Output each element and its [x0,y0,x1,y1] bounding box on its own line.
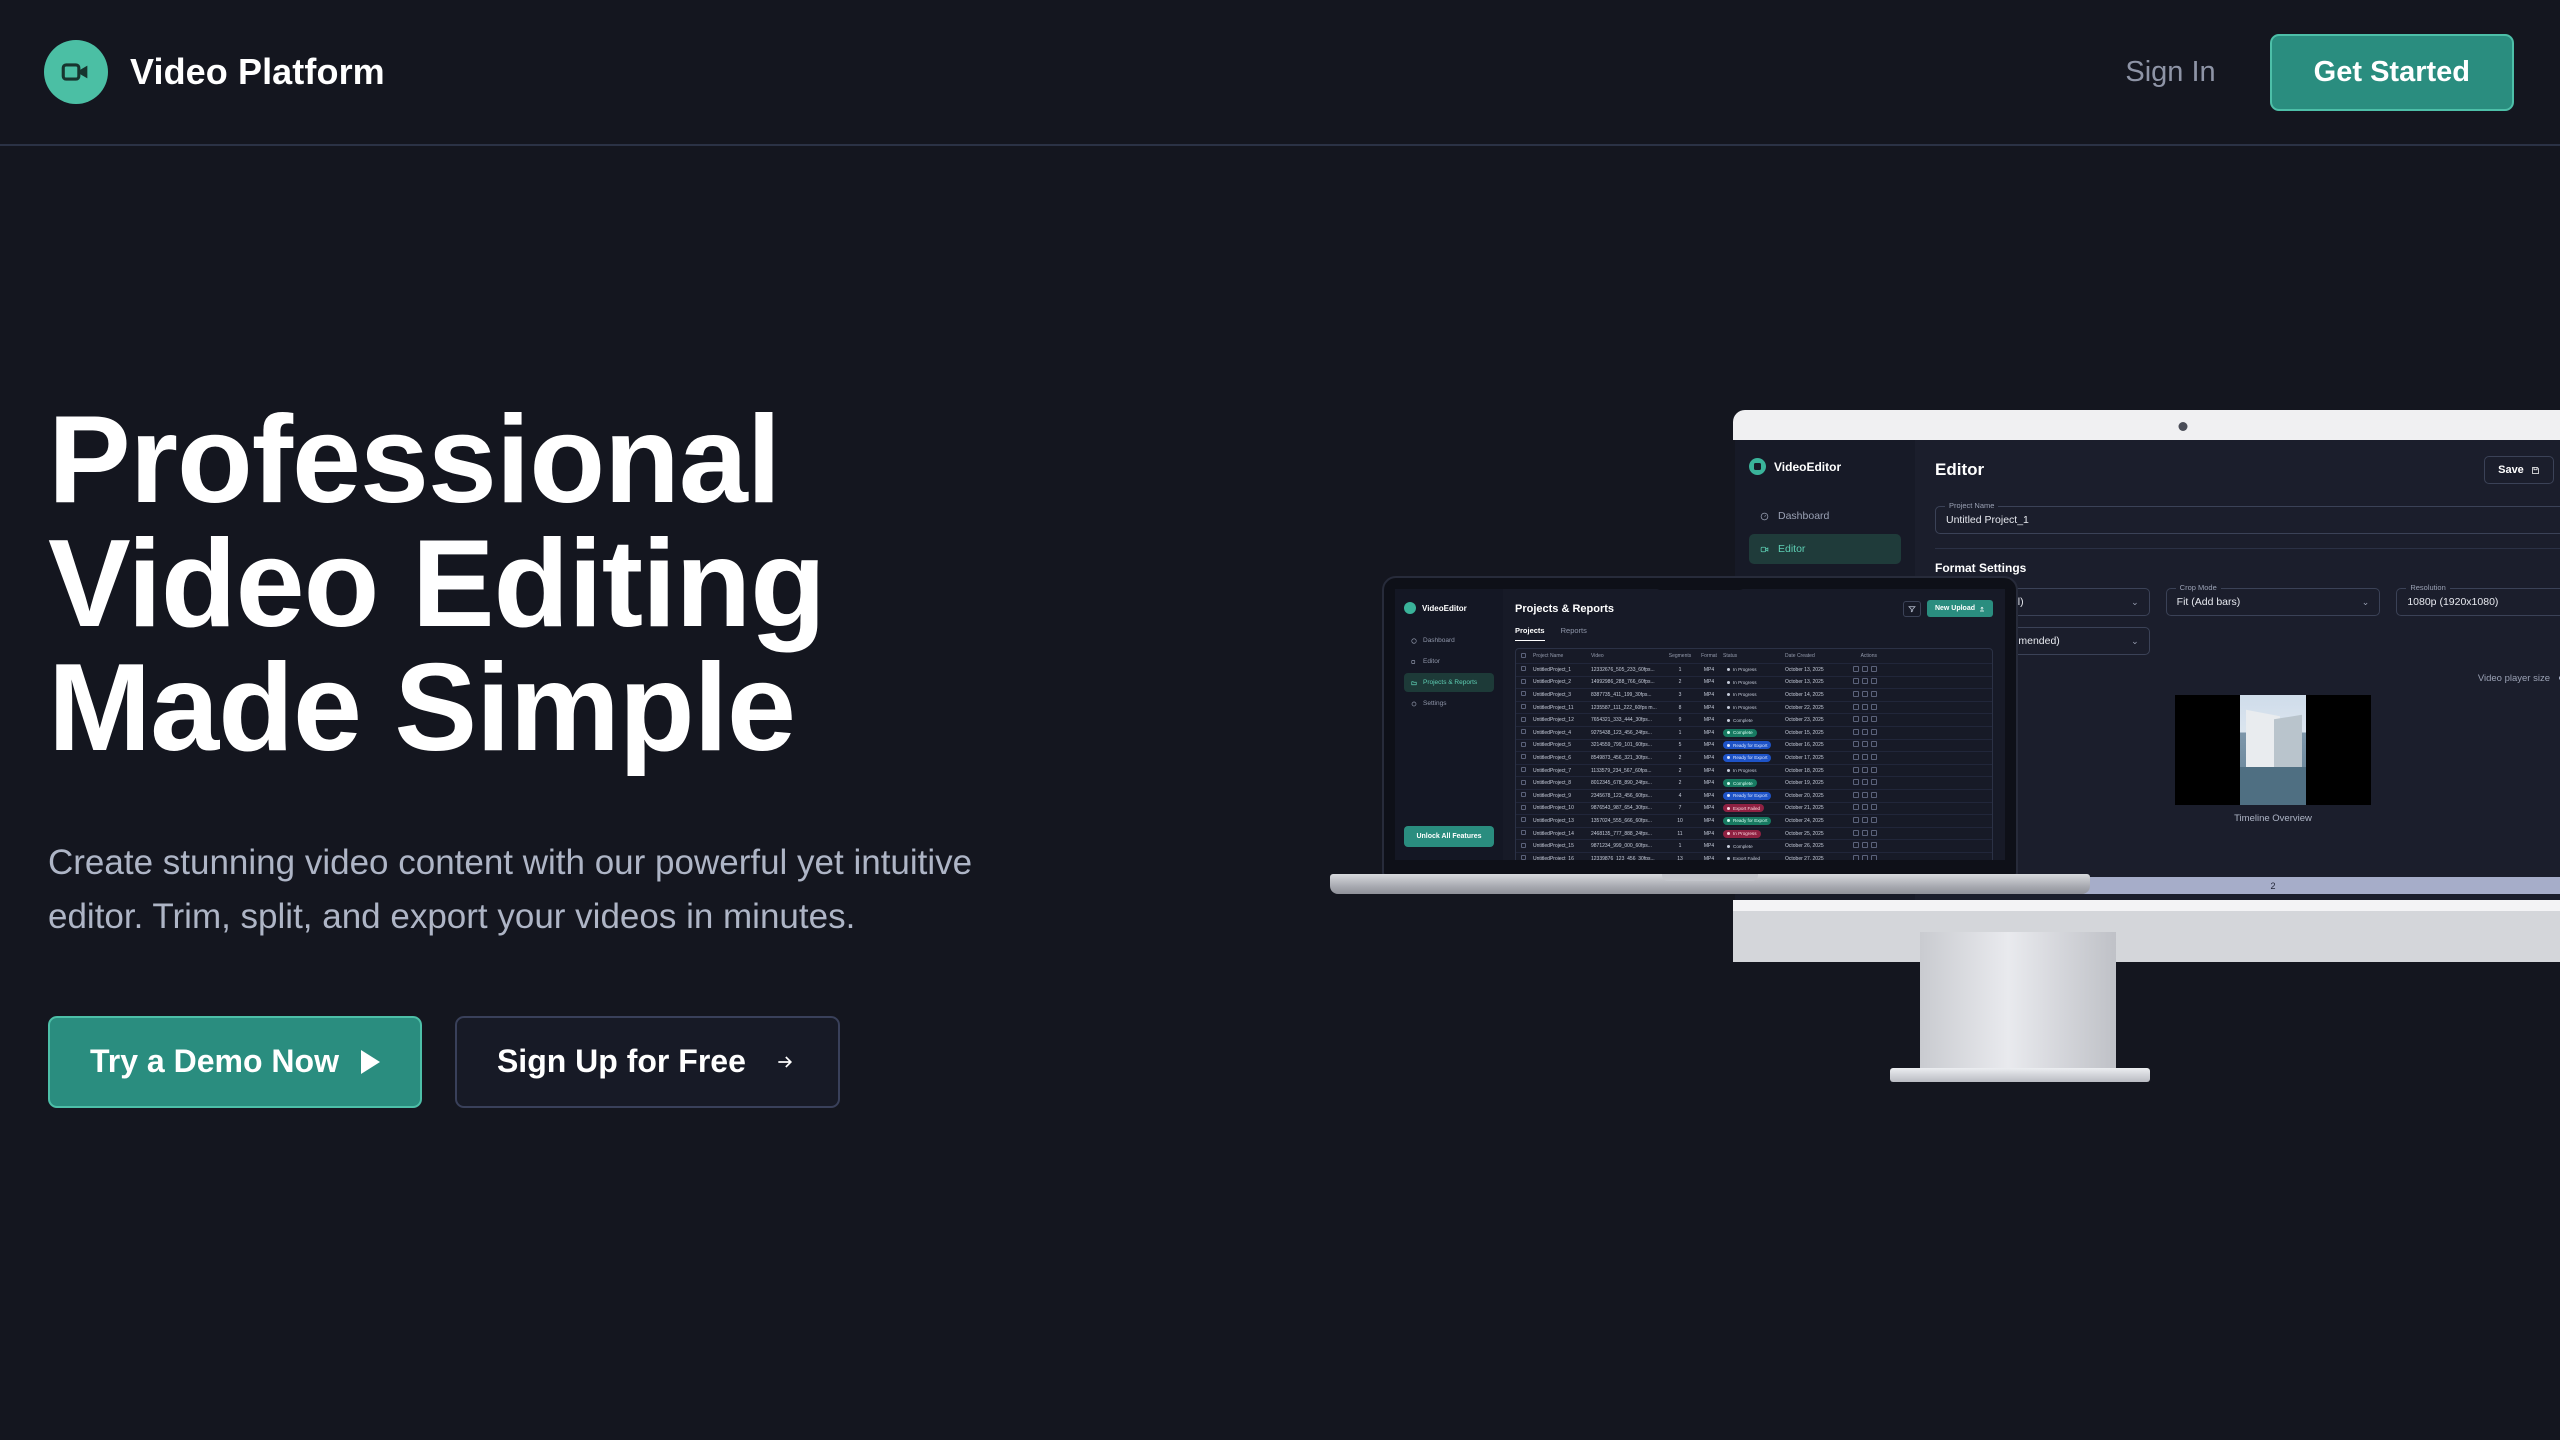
sidebar-item-editor[interactable]: Editor [1749,534,1901,564]
cell-segments: 11 [1665,831,1695,837]
cell-video: 14992986_288_766_60fps... [1591,679,1665,685]
export-icon[interactable] [1862,691,1868,697]
cell-actions [1843,779,1877,787]
title-line-2: Video Editing [48,522,1148,646]
row-checkbox[interactable] [1521,843,1533,850]
status-badge: In Progress [1723,767,1761,775]
cell-actions [1843,741,1877,749]
export-icon[interactable] [1862,729,1868,735]
video-frame [2240,695,2306,805]
edit-icon[interactable] [1853,678,1859,684]
cell-status: In Progress [1723,678,1785,686]
status-badge: In Progress [1723,678,1761,686]
delete-icon[interactable] [1871,842,1877,848]
cell-format: MP4 [1695,780,1723,786]
cell-actions [1843,678,1877,686]
folder-icon [1411,680,1417,686]
cell-format: MP4 [1695,692,1723,698]
column-project-name[interactable]: Project Name [1533,653,1591,659]
delete-icon[interactable] [1871,779,1877,785]
cell-project-name: UntitledProject_4 [1533,730,1591,736]
hero-subtitle: Create stunning video content with our p… [48,836,1118,944]
cell-segments: 2 [1665,768,1695,774]
cell-format: MP4 [1695,667,1723,673]
cell-date-created: October 16, 2025 [1785,742,1843,748]
new-upload-label: New Upload [1935,605,1975,612]
status-badge: Ready for Export [1723,741,1771,749]
editor-brand: VideoEditor [1749,458,1901,475]
cell-actions [1843,767,1877,775]
status-badge: In Progress [1723,666,1761,674]
cell-status: Complete [1723,716,1785,724]
video-player[interactable] [2175,695,2371,805]
column-status[interactable]: Status [1723,653,1785,659]
export-icon[interactable] [1862,842,1868,848]
table-row[interactable]: UntitledProject_49275438_123_456_24fps..… [1516,727,1992,740]
editor-brand-label: VideoEditor [1774,460,1841,474]
cell-segments: 7 [1665,805,1695,811]
cell-format: MP4 [1695,717,1723,723]
title-line-3: Made Simple [48,646,1148,770]
table-row[interactable]: UntitledProject_53214559_799_101_60fps..… [1516,740,1992,753]
edit-icon[interactable] [1853,804,1859,810]
editor-topbar: Editor Save Exp [1935,456,2560,484]
table-row[interactable]: UntitledProject_71133579_234_567_60fps..… [1516,765,1992,778]
status-badge: Complete [1723,729,1757,737]
cell-video: 12332676_505_233_60fps... [1591,667,1665,673]
cell-video: 8387735_411_199_30fps... [1591,692,1665,698]
cell-status: Ready for Export [1723,817,1785,825]
cell-segments: 2 [1665,679,1695,685]
cell-format: MP4 [1695,856,1723,860]
status-badge: Ready for Export [1723,817,1771,825]
cell-status: In Progress [1723,767,1785,775]
delete-icon[interactable] [1871,704,1877,710]
select-all-checkbox[interactable] [1521,653,1533,660]
status-badge: Complete [1723,842,1757,850]
cell-actions [1843,842,1877,850]
try-demo-label: Try a Demo Now [90,1043,339,1080]
cell-segments: 1 [1665,730,1695,736]
video-icon [1411,659,1417,665]
edit-icon[interactable] [1853,716,1859,722]
chevron-down-icon: ⌄ [2362,597,2370,608]
table-row[interactable]: UntitledProject_68549873_456_321_30fps..… [1516,752,1992,765]
cell-video: 1357024_555_666_60fps... [1591,818,1665,824]
edit-icon[interactable] [1853,830,1859,836]
cell-format: MP4 [1695,730,1723,736]
export-icon[interactable] [1862,855,1868,860]
hero-cta-group: Try a Demo Now Sign Up for Free [48,1016,1148,1108]
cell-status: Complete [1723,842,1785,850]
cell-segments: 1 [1665,843,1695,849]
status-badge: Ready for Export [1723,754,1771,762]
sidebar-item-dashboard[interactable]: Dashboard [1404,631,1494,650]
cell-format: MP4 [1695,831,1723,837]
cell-date-created: October 26, 2025 [1785,843,1843,849]
row-checkbox[interactable] [1521,792,1533,799]
sign-in-link[interactable]: Sign In [2125,56,2215,89]
camera-icon [2179,422,2188,431]
cell-status: Ready for Export [1723,792,1785,800]
export-icon[interactable] [1862,704,1868,710]
cell-format: MP4 [1695,705,1723,711]
laptop-screen: VideoEditor Dashboard Editor [1395,589,2005,860]
delete-icon[interactable] [1871,666,1877,672]
projects-table: Project Name Video Segments Format Statu… [1515,648,1993,860]
save-label: Save [2498,464,2524,476]
row-checkbox[interactable] [1521,855,1533,860]
cell-actions [1843,792,1877,800]
status-badge: In Progress [1723,691,1761,699]
cell-video: 12339876_123_456_30fps... [1591,856,1665,860]
export-icon[interactable] [1862,754,1868,760]
cell-status: Complete [1723,779,1785,787]
export-icon[interactable] [1862,804,1868,810]
cell-format: MP4 [1695,768,1723,774]
cell-video: 9876543_987_654_30fps... [1591,805,1665,811]
cell-segments: 1 [1665,667,1695,673]
row-checkbox[interactable] [1521,691,1533,698]
resolution-select[interactable]: Resolution 1080p (1920x1080) ⌄ [2396,588,2560,616]
sidebar-label: Editor [1778,543,1805,555]
laptop-tabs: Projects Reports [1515,626,1993,641]
cell-project-name: UntitledProject_3 [1533,692,1591,698]
monitor-stand-foot [1890,1068,2150,1082]
laptop-nav: Dashboard Editor Projects & Reports [1404,631,1494,713]
cell-video: 2468135_777_888_24fps... [1591,831,1665,837]
brand-name: Video Platform [130,51,385,93]
video-icon [1760,545,1769,554]
cell-project-name: UntitledProject_10 [1533,805,1591,811]
cell-segments: 3 [1665,692,1695,698]
try-demo-button[interactable]: Try a Demo Now [48,1016,422,1108]
row-checkbox[interactable] [1521,717,1533,724]
delete-icon[interactable] [1871,855,1877,860]
cell-actions [1843,704,1877,712]
cell-actions [1843,729,1877,737]
cell-actions [1843,830,1877,838]
row-checkbox[interactable] [1521,780,1533,787]
laptop-base-notch [1662,874,1758,881]
cell-video: 9871234_999_000_60fps... [1591,843,1665,849]
laptop-notch [1654,578,1746,590]
laptop-brand: VideoEditor [1404,602,1494,614]
table-row[interactable]: UntitledProject_109876543_987_654_30fps.… [1516,803,1992,816]
field-label: Crop Mode [2176,583,2221,592]
subtitle-line-1: Create stunning video content with our p… [48,836,1118,890]
subtitle-line-2: editor. Trim, split, and export your vid… [48,890,1118,944]
export-icon[interactable] [1862,779,1868,785]
site-header: Video Platform Sign In Get Started [0,0,2560,146]
status-badge: Complete [1723,779,1757,787]
cell-project-name: UntitledProject_13 [1533,818,1591,824]
cell-actions [1843,716,1877,724]
gauge-icon [1411,638,1417,644]
delete-icon[interactable] [1871,729,1877,735]
cell-video: 8549873_456_321_30fps... [1591,755,1665,761]
cell-segments: 2 [1665,780,1695,786]
project-name-label: Project Name [1945,501,1998,510]
save-button[interactable]: Save [2484,456,2554,484]
video-camera-icon [1749,458,1766,475]
header-nav: Sign In Get Started [2125,34,2514,111]
table-header-row: Project Name Video Segments Format Statu… [1516,649,1992,664]
delete-icon[interactable] [1871,741,1877,747]
sidebar-label: Editor [1423,658,1440,665]
edit-icon[interactable] [1853,779,1859,785]
cell-video: 7654321_333_444_30fps... [1591,717,1665,723]
player-size-control[interactable]: Video player size [2478,673,2560,684]
cell-project-name: UntitledProject_16 [1533,856,1591,860]
cell-date-created: October 21, 2025 [1785,805,1843,811]
edit-icon[interactable] [1853,855,1859,860]
delete-icon[interactable] [1871,716,1877,722]
cell-status: Ready for Export [1723,741,1785,749]
cell-date-created: October 23, 2025 [1785,717,1843,723]
cell-date-created: October 18, 2025 [1785,768,1843,774]
chevron-down-icon: ⌄ [2131,597,2139,608]
cell-actions [1843,754,1877,762]
cell-segments: 4 [1665,793,1695,799]
cell-date-created: October 15, 2025 [1785,730,1843,736]
cell-video: 1133579_234_567_60fps... [1591,768,1665,774]
crop-mode-select[interactable]: Crop Mode Fit (Add bars) ⌄ [2166,588,2381,616]
cell-format: MP4 [1695,843,1723,849]
cell-date-created: October 24, 2025 [1785,818,1843,824]
table-row[interactable]: UntitledProject_131357024_555_666_60fps.… [1516,815,1992,828]
project-name-value: Untitled Project_1 [1946,514,2029,526]
export-icon[interactable] [1862,817,1868,823]
sidebar-item-settings[interactable]: Settings [1404,694,1494,713]
cell-date-created: October 14, 2025 [1785,692,1843,698]
project-name-field[interactable]: Project Name Untitled Project_1 [1935,506,2560,534]
edit-icon[interactable] [1853,729,1859,735]
status-badge: Export Failed [1723,855,1764,860]
cell-format: MP4 [1695,742,1723,748]
cell-project-name: UntitledProject_14 [1533,831,1591,837]
cell-format: MP4 [1695,793,1723,799]
column-format[interactable]: Format [1695,653,1723,659]
table-row[interactable]: UntitledProject_111235587_111_222_60fps … [1516,702,1992,715]
delete-icon[interactable] [1871,754,1877,760]
chevron-down-icon: ⌄ [2131,636,2139,647]
table-row[interactable]: UntitledProject_112332676_505_233_60fps.… [1516,664,1992,677]
row-checkbox[interactable] [1521,704,1533,711]
cell-status: In Progress [1723,691,1785,699]
cell-segments: 2 [1665,755,1695,761]
editor-page-title: Editor [1935,460,1984,480]
cell-status: Export Failed [1723,855,1785,860]
tab-reports[interactable]: Reports [1561,626,1587,641]
sidebar-item-projects[interactable]: Projects & Reports [1404,673,1494,692]
tab-projects[interactable]: Projects [1515,626,1545,641]
table-row[interactable]: UntitledProject_159871234_999_000_60fps.… [1516,840,1992,853]
get-started-button[interactable]: Get Started [2270,34,2514,111]
edit-icon[interactable] [1853,842,1859,848]
export-icon[interactable] [1862,666,1868,672]
video-camera-icon [1404,602,1416,614]
export-icon[interactable] [1862,830,1868,836]
delete-icon[interactable] [1871,792,1877,798]
divider [1935,548,2560,549]
status-badge: Complete [1723,716,1757,724]
edit-icon[interactable] [1853,704,1859,710]
delete-icon[interactable] [1871,678,1877,684]
cell-date-created: October 17, 2025 [1785,755,1843,761]
cell-project-name: UntitledProject_9 [1533,793,1591,799]
cell-project-name: UntitledProject_8 [1533,780,1591,786]
sidebar-item-editor[interactable]: Editor [1404,652,1494,671]
cell-date-created: October 13, 2025 [1785,667,1843,673]
edit-icon[interactable] [1853,691,1859,697]
status-badge: Export Failed [1723,804,1764,812]
field-value: Fit (Add bars) [2177,596,2241,608]
laptop-main: Projects & Reports New Upload [1503,589,2005,860]
play-icon [361,1050,380,1074]
status-badge: In Progress [1723,830,1761,838]
filter-icon[interactable] [1903,601,1921,617]
page-title: Professional Video Editing Made Simple [48,398,1148,770]
arrow-right-icon [772,1043,798,1080]
column-video[interactable]: Video [1591,653,1665,659]
export-icon[interactable] [1862,678,1868,684]
delete-icon[interactable] [1871,804,1877,810]
field-label: Resolution [2406,583,2449,592]
sidebar-item-dashboard[interactable]: Dashboard [1749,501,1901,531]
cell-format: MP4 [1695,755,1723,761]
row-checkbox[interactable] [1521,729,1533,736]
cell-project-name: UntitledProject_15 [1533,843,1591,849]
edit-icon[interactable] [1853,666,1859,672]
edit-icon[interactable] [1853,792,1859,798]
sidebar-label: Dashboard [1778,510,1829,522]
laptop-lid: VideoEditor Dashboard Editor [1382,576,2018,876]
cell-actions [1843,666,1877,674]
delete-icon[interactable] [1871,691,1877,697]
cell-format: MP4 [1695,805,1723,811]
sidebar-label: Projects & Reports [1423,679,1477,686]
cell-status: Ready for Export [1723,754,1785,762]
cell-status: Export Failed [1723,804,1785,812]
table-row[interactable]: UntitledProject_142468135_777_888_24fps.… [1516,828,1992,841]
cell-video: 2345678_123_456_60fps... [1591,793,1665,799]
cell-segments: 13 [1665,856,1695,860]
cell-format: MP4 [1695,679,1723,685]
cell-status: In Progress [1723,704,1785,712]
cell-segments: 5 [1665,742,1695,748]
gear-icon [1411,701,1417,707]
cell-status: In Progress [1723,830,1785,838]
player-size-label: Video player size [2478,673,2550,684]
edit-icon[interactable] [1853,741,1859,747]
export-icon[interactable] [1862,716,1868,722]
cell-format: MP4 [1695,818,1723,824]
laptop-brand-label: VideoEditor [1422,604,1467,613]
cell-date-created: October 25, 2025 [1785,831,1843,837]
save-icon [2531,466,2540,475]
cell-video: 8012345_678_890_24fps... [1591,780,1665,786]
column-actions: Actions [1843,653,1877,659]
row-checkbox[interactable] [1521,742,1533,749]
table-row[interactable]: UntitledProject_214992986_288_766_60fps.… [1516,677,1992,690]
row-checkbox[interactable] [1521,754,1533,761]
monitor-bottom-bezel [1733,900,2560,962]
cell-project-name: UntitledProject_7 [1533,768,1591,774]
export-icon[interactable] [1862,741,1868,747]
row-checkbox[interactable] [1521,666,1533,673]
laptop-sidebar: VideoEditor Dashboard Editor [1395,589,1503,860]
format-settings-title: Format Settings [1935,561,2560,575]
cell-segments: 10 [1665,818,1695,824]
cell-segments: 8 [1665,705,1695,711]
delete-icon[interactable] [1871,767,1877,773]
sign-up-button[interactable]: Sign Up for Free [455,1016,840,1108]
sidebar-label: Settings [1423,700,1447,707]
new-upload-button[interactable]: New Upload [1927,600,1993,617]
sign-up-label: Sign Up for Free [497,1043,746,1080]
monitor-stand-neck [1920,932,2116,1072]
table-row[interactable]: UntitledProject_38387735_411_199_30fps..… [1516,689,1992,702]
sidebar-label: Dashboard [1423,637,1455,644]
cell-segments: 9 [1665,717,1695,723]
hero-section: Professional Video Editing Made Simple C… [48,398,1148,1108]
export-icon[interactable] [1862,767,1868,773]
unlock-all-features-button[interactable]: Unlock All Features [1404,826,1494,847]
edit-icon[interactable] [1853,754,1859,760]
cell-date-created: October 20, 2025 [1785,793,1843,799]
edit-icon[interactable] [1853,767,1859,773]
video-camera-icon [44,40,108,104]
cell-video: 1235587_111_222_60fps m... [1591,705,1665,711]
editor-actions: Save Exp [2484,456,2560,484]
table-row[interactable]: UntitledProject_92345678_123_456_60fps..… [1516,790,1992,803]
export-icon[interactable] [1862,792,1868,798]
row-checkbox[interactable] [1521,679,1533,686]
column-segments[interactable]: Segments [1665,653,1695,659]
laptop-header-actions: New Upload [1903,600,1993,617]
table-row[interactable]: UntitledProject_88012345_678_890_24fps..… [1516,777,1992,790]
row-checkbox[interactable] [1521,830,1533,837]
cell-actions [1843,817,1877,825]
gauge-icon [1760,512,1769,521]
cell-status: In Progress [1723,666,1785,674]
cell-date-created: October 19, 2025 [1785,780,1843,786]
cell-project-name: UntitledProject_5 [1533,742,1591,748]
cell-date-created: October 27, 2025 [1785,856,1843,860]
edit-icon[interactable] [1853,817,1859,823]
delete-icon[interactable] [1871,817,1877,823]
cell-project-name: UntitledProject_11 [1533,705,1591,711]
row-checkbox[interactable] [1521,817,1533,824]
column-date-created[interactable]: Date Created [1785,653,1843,659]
cell-date-created: October 13, 2025 [1785,679,1843,685]
status-badge: In Progress [1723,704,1761,712]
cell-project-name: UntitledProject_12 [1533,717,1591,723]
cell-status: Complete [1723,729,1785,737]
monitor-top-bezel [1733,410,2560,440]
cell-video: 9275438_123_456_24fps... [1591,730,1665,736]
table-row[interactable]: UntitledProject_127654321_333_444_30fps.… [1516,714,1992,727]
table-row[interactable]: UntitledProject_1612339876_123_456_30fps… [1516,853,1992,860]
status-badge: Ready for Export [1723,792,1771,800]
row-checkbox[interactable] [1521,767,1533,774]
upload-icon [1979,606,1985,612]
device-mockups: VideoEditor Dashboard Editor [1330,380,2560,1200]
brand[interactable]: Video Platform [44,40,385,104]
row-checkbox[interactable] [1521,805,1533,812]
delete-icon[interactable] [1871,830,1877,836]
